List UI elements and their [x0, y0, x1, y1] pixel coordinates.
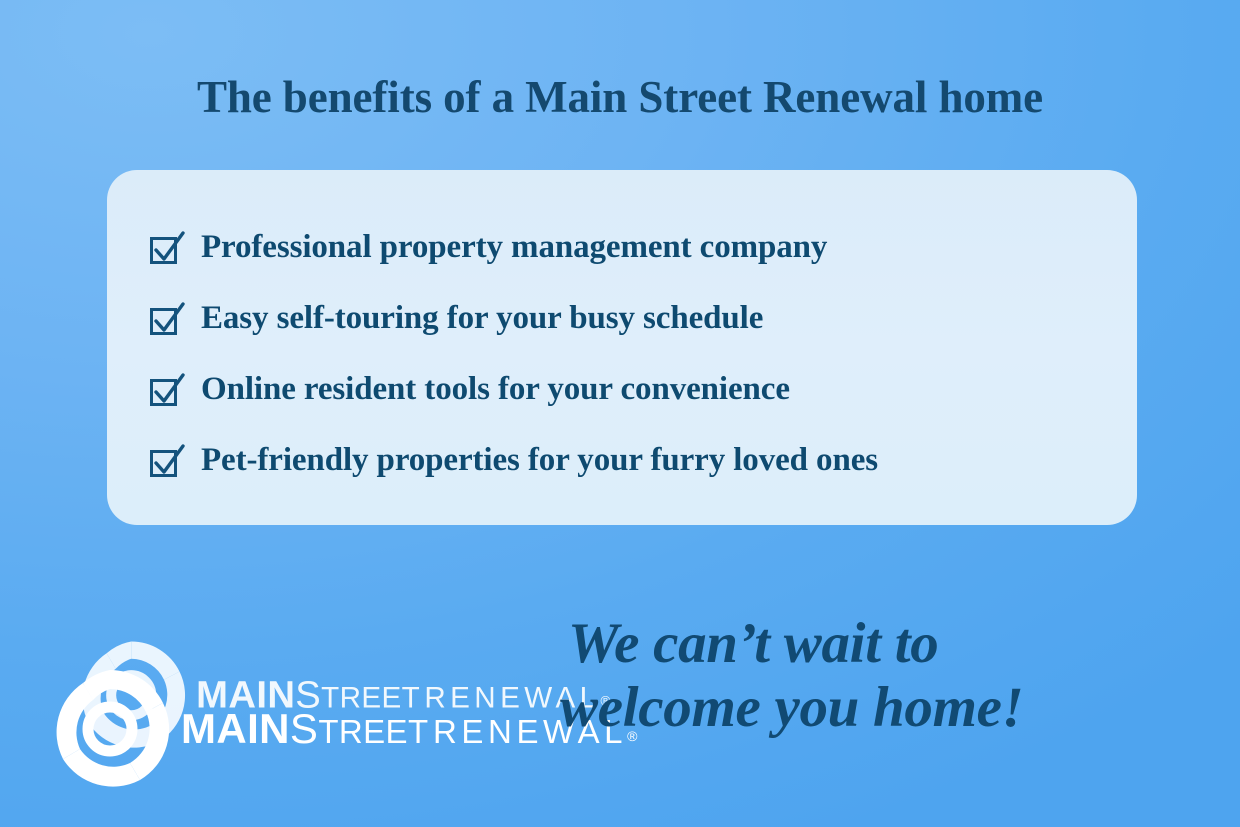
promotional-poster: The benefits of a Main Street Renewal ho…: [0, 0, 1240, 827]
checkbox-checked-icon: [149, 302, 185, 336]
checkbox-checked-icon: [149, 373, 185, 407]
tagline: We can’t wait to welcome you home!: [560, 612, 1180, 741]
wordmark-main: MAIN: [181, 705, 290, 752]
checkbox-checked-icon: [149, 444, 185, 478]
benefits-list: Professional property management company…: [107, 212, 1137, 496]
list-item-label: Easy self-touring for your busy schedule: [201, 302, 763, 335]
page-title: The benefits of a Main Street Renewal ho…: [0, 72, 1240, 122]
list-item: Online resident tools for your convenien…: [107, 354, 1137, 425]
list-item: Easy self-touring for your busy schedule: [107, 283, 1137, 354]
wordmark-street-cap: S: [290, 705, 318, 752]
wordmark-street-rest: TREET: [318, 713, 428, 750]
list-item: Pet-friendly properties for your furry l…: [107, 425, 1137, 496]
checkbox-checked-icon: [149, 231, 185, 265]
list-item-label: Online resident tools for your convenien…: [201, 373, 790, 406]
benefits-card: Professional property management company…: [107, 170, 1137, 525]
list-item-label: Professional property management company: [201, 231, 827, 264]
list-item: Professional property management company: [107, 212, 1137, 283]
tagline-line-2: welcome you home!: [560, 676, 1180, 740]
tagline-line-1: We can’t wait to: [560, 612, 1180, 676]
list-item-label: Pet-friendly properties for your furry l…: [201, 444, 878, 477]
brand-logo: MAINSTREET RENEWAL®: [45, 664, 637, 794]
wordmark-line-top: MAINSTREET: [181, 705, 429, 752]
mainstreet-renewal-swirl-icon: [45, 664, 175, 794]
